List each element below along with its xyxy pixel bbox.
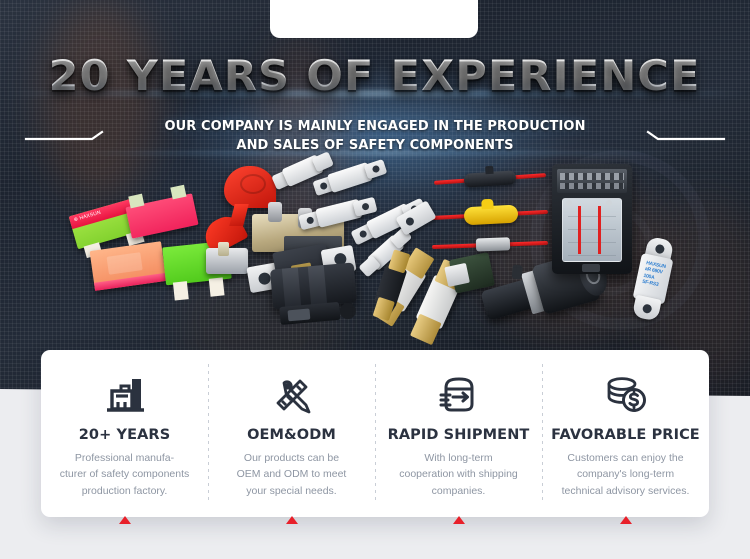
product-semiconductor-fuse-blue-label: HAXSUNaR 690V100ASF-RS3 [624,234,684,323]
product-inline-fuse-holder-yellow [430,201,549,229]
subtitle-line-2: AND SALES OF SAFETY COMPONENTS [0,137,750,156]
promo-banner-page: 20 YEARS OF EXPERIENCE OUR COMPANY IS MA… [0,0,750,559]
feature-title: OEM&ODM [216,427,367,443]
card-marker-triangle-icon [119,516,131,524]
card-marker-triangle-icon [620,516,632,524]
product-collage: ⊕ HAXSUN [0,160,750,345]
feature-title: 20+ YEARS [49,427,200,443]
feature-desc-line: Customers can enjoy the [550,450,701,466]
feature-desc-line: cturer of safety components [49,466,200,482]
feature-description: Professional manufa- cturer of safety co… [49,450,200,499]
feature-item-oem-odm[interactable]: OEM&ODM Our products can be OEM and ODM … [208,350,375,517]
card-marker-triangle-icon [286,516,298,524]
shipping-box-arrow-icon [383,372,534,418]
features-card: 20+ YEARS Professional manufa- cturer of… [41,350,709,517]
feature-desc-line: Our products can be [216,450,367,466]
feature-description: With long-term cooperation with shipping… [383,450,534,499]
product-inline-fuse-holder-black [434,166,547,192]
page-title: 20 YEARS OF EXPERIENCE [49,55,701,97]
feature-item-shipment[interactable]: RAPID SHIPMENT With long-term cooperatio… [375,350,542,517]
product-blade-fuse-orange [90,241,167,291]
logo-placeholder-box[interactable] [270,0,478,38]
factory-icon [49,372,200,418]
decor-line-right-icon [646,130,726,142]
feature-desc-line: your special needs. [216,483,367,499]
subtitle: OUR COMPANY IS MAINLY ENGAGED IN THE PRO… [0,118,750,156]
coins-dollar-icon [550,372,701,418]
feature-desc-line: technical advisory services. [550,483,701,499]
feature-title: FAVORABLE PRICE [550,427,701,443]
feature-desc-line: companies. [383,483,534,499]
feature-desc-line: With long-term [383,450,534,466]
feature-desc-line: OEM and ODM to meet [216,466,367,482]
feature-description: Our products can be OEM and ODM to meet … [216,450,367,499]
feature-desc-line: production factory. [49,483,200,499]
feature-description: Customers can enjoy the company's long-t… [550,450,701,499]
subtitle-line-1: OUR COMPANY IS MAINLY ENGAGED IN THE PRO… [0,118,750,137]
feature-title: RAPID SHIPMENT [383,427,534,443]
card-marker-triangle-icon [453,516,465,524]
feature-desc-line: Professional manufa- [49,450,200,466]
feature-desc-line: company's long-term [550,466,701,482]
feature-item-years[interactable]: 20+ YEARS Professional manufa- cturer of… [41,350,208,517]
headline-container: 20 YEARS OF EXPERIENCE [0,55,750,97]
product-inline-fuse-holder-metal [432,236,548,254]
product-blade-fuse-pink [125,193,198,238]
feature-desc-line: cooperation with shipping [383,466,534,482]
decor-line-left-icon [24,130,104,142]
feature-item-price[interactable]: FAVORABLE PRICE Customers can enjoy the … [542,350,709,517]
product-black-fuse-holder [265,256,362,328]
ruler-pencil-icon [216,372,367,418]
product-fuse-box-panel [552,164,632,274]
